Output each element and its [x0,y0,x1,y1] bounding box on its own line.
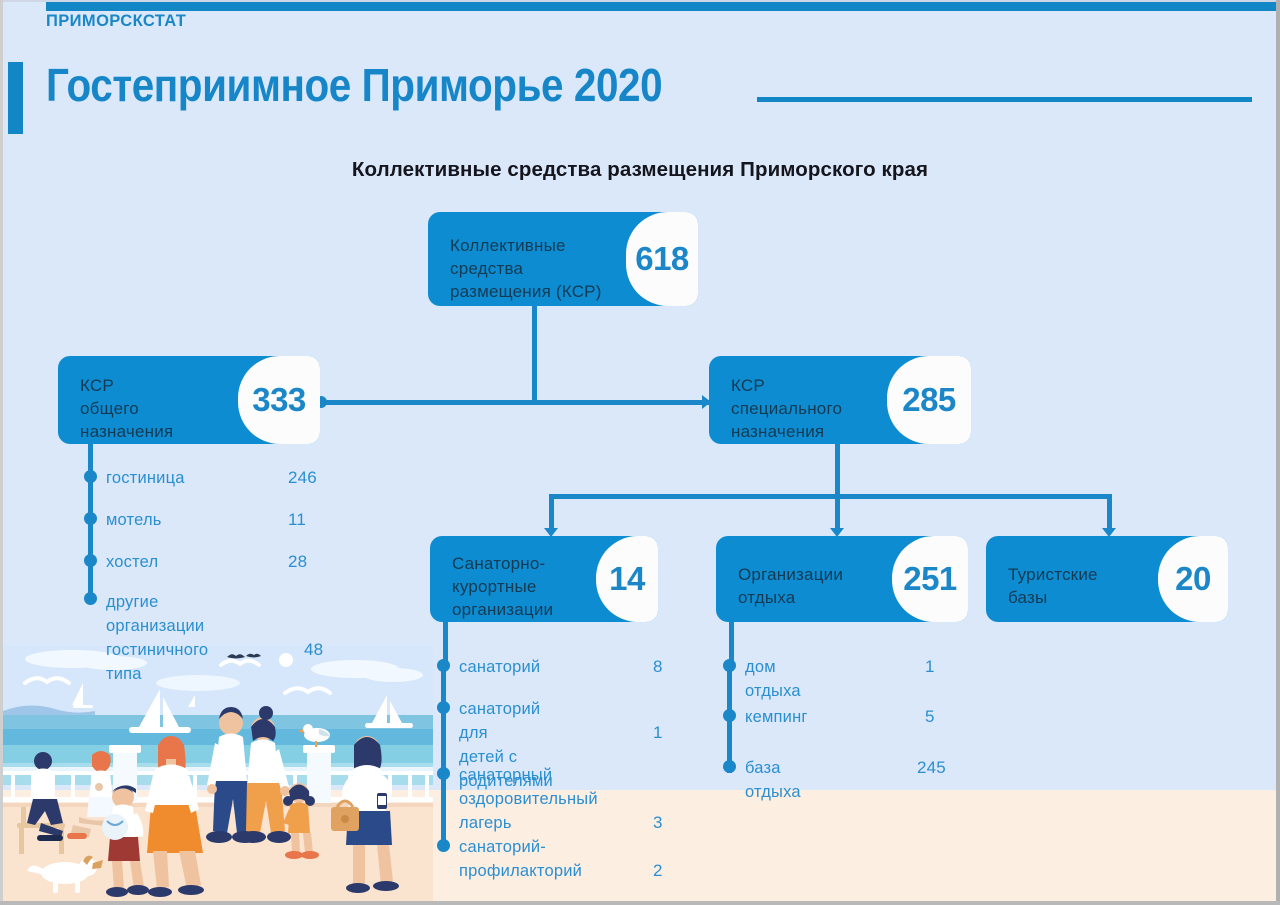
bullet-dot [84,592,97,605]
list-item-value: 1 [653,721,663,745]
title-rule [757,97,1252,102]
node-tourbase[interactable]: Туристские базы 20 [986,536,1228,622]
connector-root-down [532,305,537,403]
page-border-top [0,0,1280,2]
list-item-value: 245 [917,756,946,780]
node-sanatorium[interactable]: Санаторно- курортные организации 14 [430,536,658,622]
list-sanatorium: санаторий 8 санаторий для детей с родите… [441,655,741,885]
bullet-dot [437,839,450,852]
node-ksr-general-badge: 333 [238,356,320,444]
brand-label: ПРИМОРСКСТАТ [46,12,186,31]
list-item-label: мотель [106,508,162,532]
beach-promenade-illustration [3,645,433,902]
list-item-value: 11 [288,508,306,532]
node-root-badge: 618 [626,212,698,306]
node-ksr-general-label: КСР общего назначения [80,374,173,443]
node-ksr-special[interactable]: КСР специального назначения 285 [709,356,971,444]
list-item-label: база отдыха [745,756,801,804]
node-root-label: Коллективные средства размещения (КСР) [450,234,602,303]
node-ksr-general[interactable]: КСР общего назначения 333 [58,356,320,444]
list-item-value: 28 [288,550,307,574]
bullet-dot [84,470,97,483]
list-item-label: санаторий- профилакторий [459,835,582,883]
list-item-value: 8 [653,655,663,679]
list-item-value: 48 [304,638,323,662]
page-border-right [1276,0,1280,905]
page-subtitle: Коллективные средства размещения Приморс… [0,158,1280,182]
connector-drop-sanatorium [549,494,554,530]
node-root[interactable]: Коллективные средства размещения (КСР) 6… [428,212,698,306]
connector-special-down [835,440,840,496]
node-sanatorium-badge: 14 [596,536,658,622]
title-accent-bar [8,62,23,134]
bullet-dot [84,554,97,567]
infographic-page: ПРИМОРСКСТАТ Гостеприимное Приморье 2020… [0,0,1280,905]
node-tourbase-label: Туристские базы [1008,563,1098,609]
node-tourbase-badge: 20 [1158,536,1228,622]
list-item-label: другие организации гостиничного типа [106,590,208,686]
connector-level2-bus [320,400,710,405]
page-border-left [0,0,3,905]
node-ksr-special-value: 285 [902,381,956,419]
list-recreation: дом отдыха 1 кемпинг 5 база отдыха 245 [727,655,1027,795]
bullet-dot [723,659,736,672]
list-item-label: хостел [106,550,158,574]
list-item-label: дом отдыха [745,655,801,703]
list-item-value: 246 [288,466,317,490]
bullet-dot [723,760,736,773]
list-item-label: санаторный оздоровительный лагерь [459,763,598,835]
node-ksr-special-label: КСР специального назначения [731,374,842,443]
list-item-label: гостиница [106,466,185,490]
bullet-dot [723,709,736,722]
bullet-dot [437,659,450,672]
list-item-label: санаторий [459,655,540,679]
node-ksr-general-value: 333 [252,381,306,419]
list-item-value: 2 [653,859,663,883]
list-item-label: кемпинг [745,705,808,729]
bullet-dot [437,767,450,780]
list-ksr-general: гостиница 246 мотель 11 хостел 28 другие… [88,466,388,641]
page-border-bottom [0,901,1280,905]
node-recreation-label: Организации отдыха [738,563,843,609]
node-tourbase-value: 20 [1175,560,1211,598]
node-root-value: 618 [635,240,689,278]
list-rail-sanatorium [441,661,446,841]
node-recreation-badge: 251 [892,536,968,622]
list-item-value: 1 [925,655,935,679]
bullet-dot [437,701,450,714]
list-rail-general [88,472,93,594]
node-recreation-value: 251 [903,560,957,598]
page-title: Гостеприимное Приморье 2020 [46,58,662,112]
node-sanatorium-label: Санаторно- курортные организации [452,552,553,621]
node-sanatorium-value: 14 [609,560,645,598]
bullet-dot [84,512,97,525]
connector-drop-tourbase [1107,494,1112,530]
node-recreation[interactable]: Организации отдыха 251 [716,536,968,622]
connector-drop-recreation [835,494,840,530]
connector-level3-bus [549,494,1112,499]
list-item-value: 3 [653,811,663,835]
node-ksr-special-badge: 285 [887,356,971,444]
list-item-value: 5 [925,705,935,729]
